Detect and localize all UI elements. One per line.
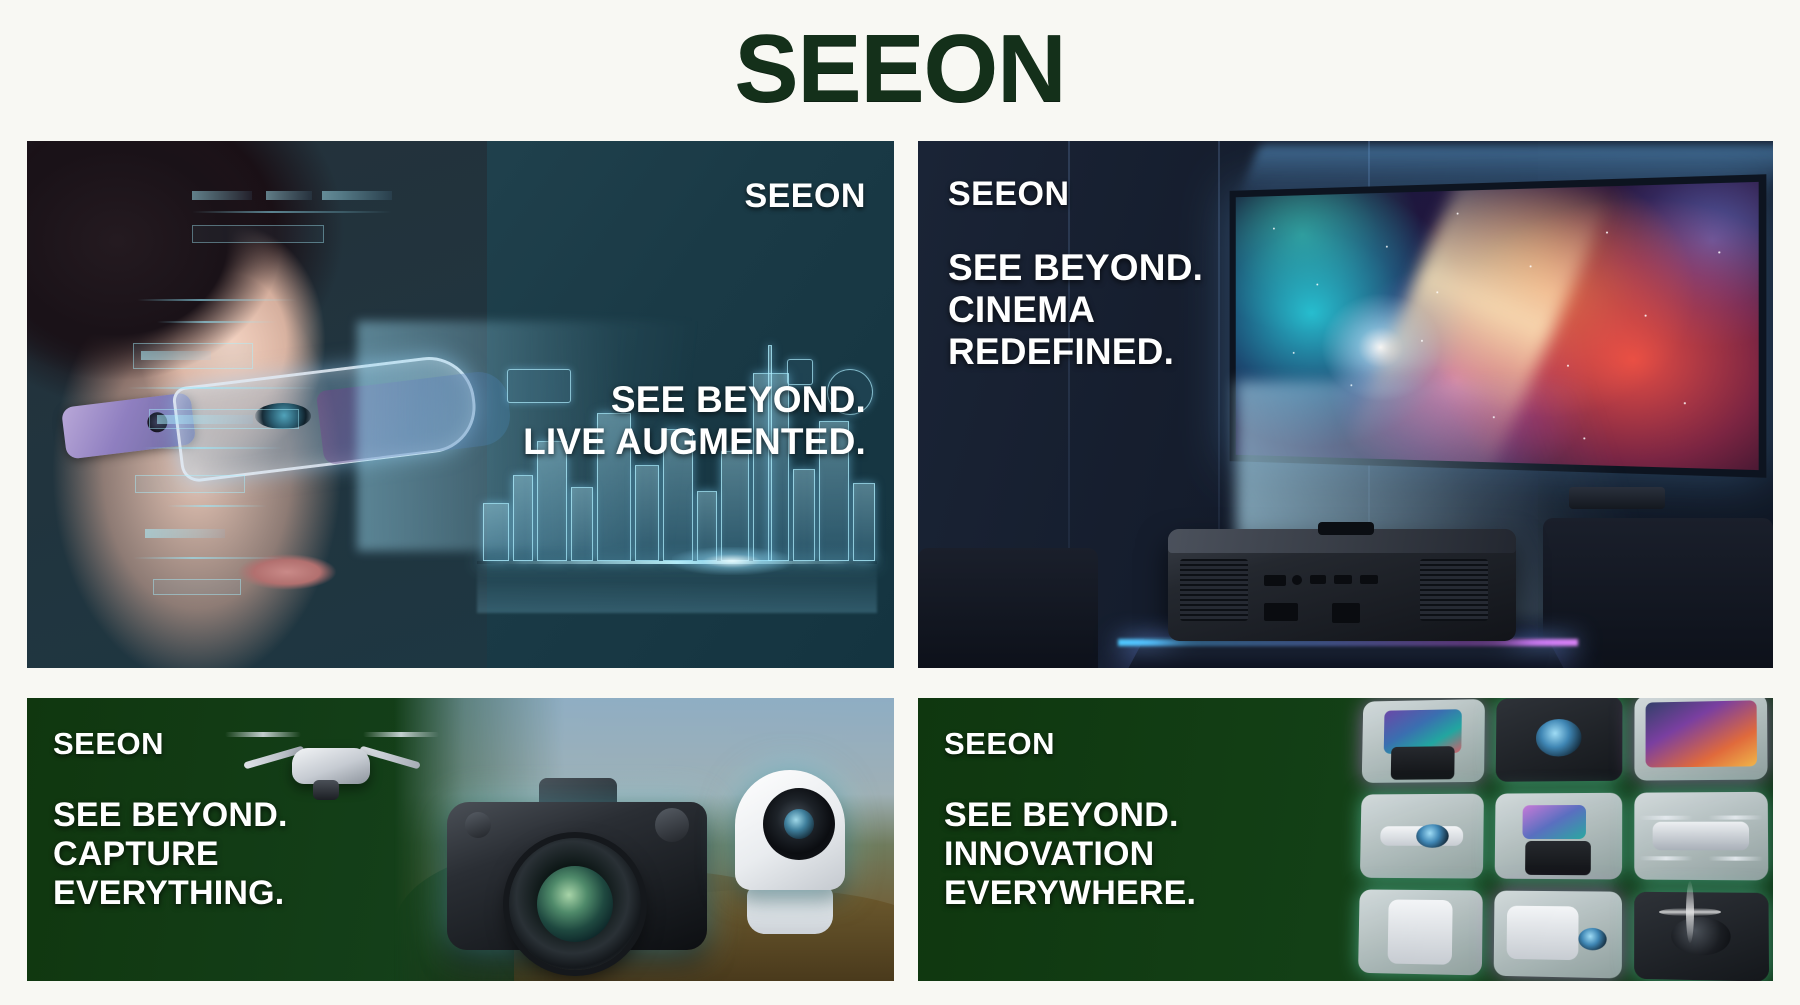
banner-brand-mark: SEEON <box>53 728 164 759</box>
router-indicator <box>1578 927 1607 950</box>
tagline-line-2: INNOVATION <box>944 835 1196 874</box>
folding-drone-body <box>1653 822 1749 850</box>
tagline-line-1: SEE BEYOND. <box>944 796 1196 835</box>
tagline-line-1: SEE BEYOND. <box>948 247 1203 289</box>
security-camera-lens-glass <box>784 809 814 839</box>
poster-canvas: SEEON <box>0 0 1800 1005</box>
drone-gimbal-camera <box>313 780 339 800</box>
banner-brand-mark: SEEON <box>944 728 1055 759</box>
camera-mode-dial <box>655 808 689 842</box>
banner-tagline: SEE BEYOND. INNOVATION EVERYWHERE. <box>944 796 1196 912</box>
device-tile-folding-drone <box>1635 792 1769 880</box>
hud-top-readout <box>192 181 402 261</box>
camera-front-dial <box>465 812 491 838</box>
device-tile-smart-hub <box>1358 889 1482 975</box>
banner-capture-everything[interactable]: SEEON SEE BEYOND. CAPTURE EVERYTHING. <box>27 698 894 981</box>
banner-brand-mark: SEEON <box>948 177 1070 211</box>
projector-device <box>1168 529 1516 641</box>
camera-lens-glass <box>537 866 613 942</box>
router-body <box>1506 906 1578 960</box>
banner-grid: SEEON SEE BEYOND. LIVE AUGMENTED. <box>27 141 1773 981</box>
security-camera-lens <box>763 788 835 860</box>
action-camera-lens <box>1416 824 1448 847</box>
sparkle-icon <box>1659 881 1721 943</box>
security-camera-base <box>747 886 833 934</box>
device-tile-router <box>1493 890 1622 978</box>
theater-sofa-left <box>918 548 1098 668</box>
projector-vent-left <box>1180 559 1248 621</box>
smart-hub-body <box>1387 899 1452 964</box>
device-tile-smart-speaker <box>1495 698 1622 782</box>
security-camera-device <box>727 770 853 942</box>
smartwatch-strap <box>1391 746 1455 780</box>
fitness-watch-strap <box>1525 841 1592 875</box>
device-tile-tablet <box>1635 698 1768 781</box>
hud-overlay-graphics <box>127 291 427 611</box>
soundbar-device <box>1569 487 1665 509</box>
drone-body <box>292 748 370 784</box>
tagline-line-2: CINEMA <box>948 289 1203 331</box>
tagline-line-3: EVERYWHERE. <box>944 874 1196 913</box>
banner-ar-glasses[interactable]: SEEON SEE BEYOND. LIVE AUGMENTED. <box>27 141 894 668</box>
banner-tagline: SEE BEYOND. CINEMA REDEFINED. <box>948 247 1203 374</box>
banner-tagline: SEE BEYOND. LIVE AUGMENTED. <box>523 379 866 463</box>
tagline-line-2: CAPTURE <box>53 835 288 874</box>
banner-innovation-everywhere[interactable]: SEEON SEE BEYOND. INNOVATION EVERYWHERE. <box>918 698 1773 981</box>
speaker-light-ring <box>1536 719 1582 757</box>
banner-tagline: SEE BEYOND. CAPTURE EVERYTHING. <box>53 796 288 912</box>
city-reflection <box>477 561 877 613</box>
tablet-screen <box>1645 700 1757 767</box>
banner-cinema-projector[interactable]: SEEON SEE BEYOND. CINEMA REDEFINED. <box>918 141 1773 668</box>
security-camera-head <box>735 770 845 890</box>
tagline-line-1: SEE BEYOND. <box>53 796 288 835</box>
projector-lens-cap <box>1318 522 1374 535</box>
camera-lens <box>509 838 641 970</box>
fitness-watch-screen <box>1522 805 1586 839</box>
tagline-line-1: SEE BEYOND. <box>523 379 866 421</box>
device-tile-smartwatch <box>1362 699 1485 783</box>
tagline-line-3: REDEFINED. <box>948 331 1203 373</box>
banner-brand-mark: SEEON <box>744 179 866 213</box>
projector-vent-right <box>1420 559 1488 621</box>
device-tile-action-camera <box>1360 794 1484 878</box>
tagline-line-3: EVERYTHING. <box>53 874 288 913</box>
masthead: SEEON <box>0 0 1800 138</box>
brand-logo: SEEON <box>734 14 1065 124</box>
device-tile-fitness-watch <box>1494 793 1622 879</box>
tagline-line-2: LIVE AUGMENTED. <box>523 421 866 463</box>
dslr-camera-device <box>447 776 707 961</box>
